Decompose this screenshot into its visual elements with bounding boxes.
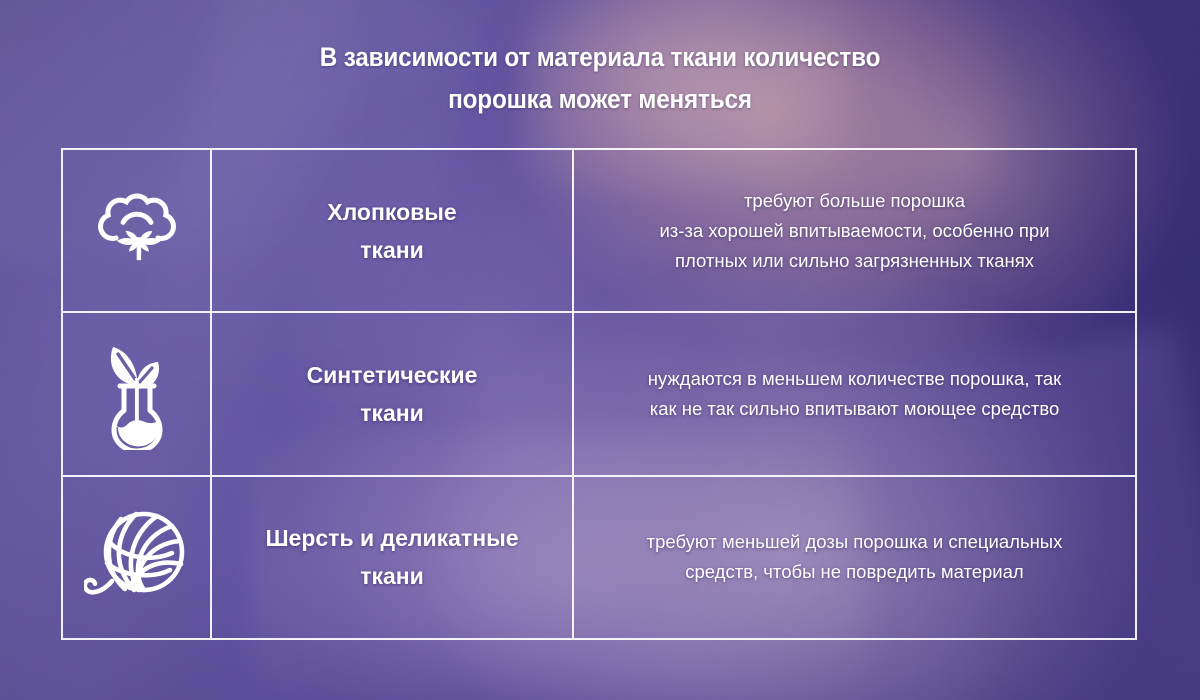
table-cell-description: требуют больше порошка из-за хорошей впи… — [574, 150, 1135, 311]
table-cell-icon — [63, 150, 212, 311]
infographic-canvas: В зависимости от материала ткани количес… — [0, 0, 1200, 700]
table-cell-icon — [63, 477, 212, 638]
table-cell-description: нуждаются в меньшем количестве порошка, … — [574, 313, 1135, 474]
fabric-type-label: Хлопковые ткани — [327, 193, 456, 269]
fabric-type-label: Синтетические ткани — [307, 356, 478, 432]
fabric-table: Хлопковые ткани требуют больше порошка и… — [61, 148, 1137, 640]
table-cell-description: требуют меньшей дозы порошка и специальн… — [574, 477, 1135, 638]
table-row: Шерсть и деликатные ткани требуют меньше… — [63, 477, 1135, 638]
table-row: Хлопковые ткани требуют больше порошка и… — [63, 150, 1135, 313]
yarn-ball-icon — [84, 507, 190, 607]
table-cell-icon — [63, 313, 212, 474]
cotton-boll-icon — [89, 183, 185, 279]
fabric-type-label: Шерсть и деликатные ткани — [265, 519, 518, 595]
table-cell-label: Синтетические ткани — [212, 313, 574, 474]
flask-with-leaves-icon — [94, 338, 180, 450]
fabric-description: требуют меньшей дозы порошка и специальн… — [647, 527, 1063, 587]
fabric-description: нуждаются в меньшем количестве порошка, … — [648, 364, 1062, 424]
table-cell-label: Хлопковые ткани — [212, 150, 574, 311]
page-title: В зависимости от материала ткани количес… — [60, 36, 1140, 120]
fabric-description: требуют больше порошка из-за хорошей впи… — [659, 186, 1049, 276]
table-row: Синтетические ткани нуждаются в меньшем … — [63, 313, 1135, 476]
table-cell-label: Шерсть и деликатные ткани — [212, 477, 574, 638]
